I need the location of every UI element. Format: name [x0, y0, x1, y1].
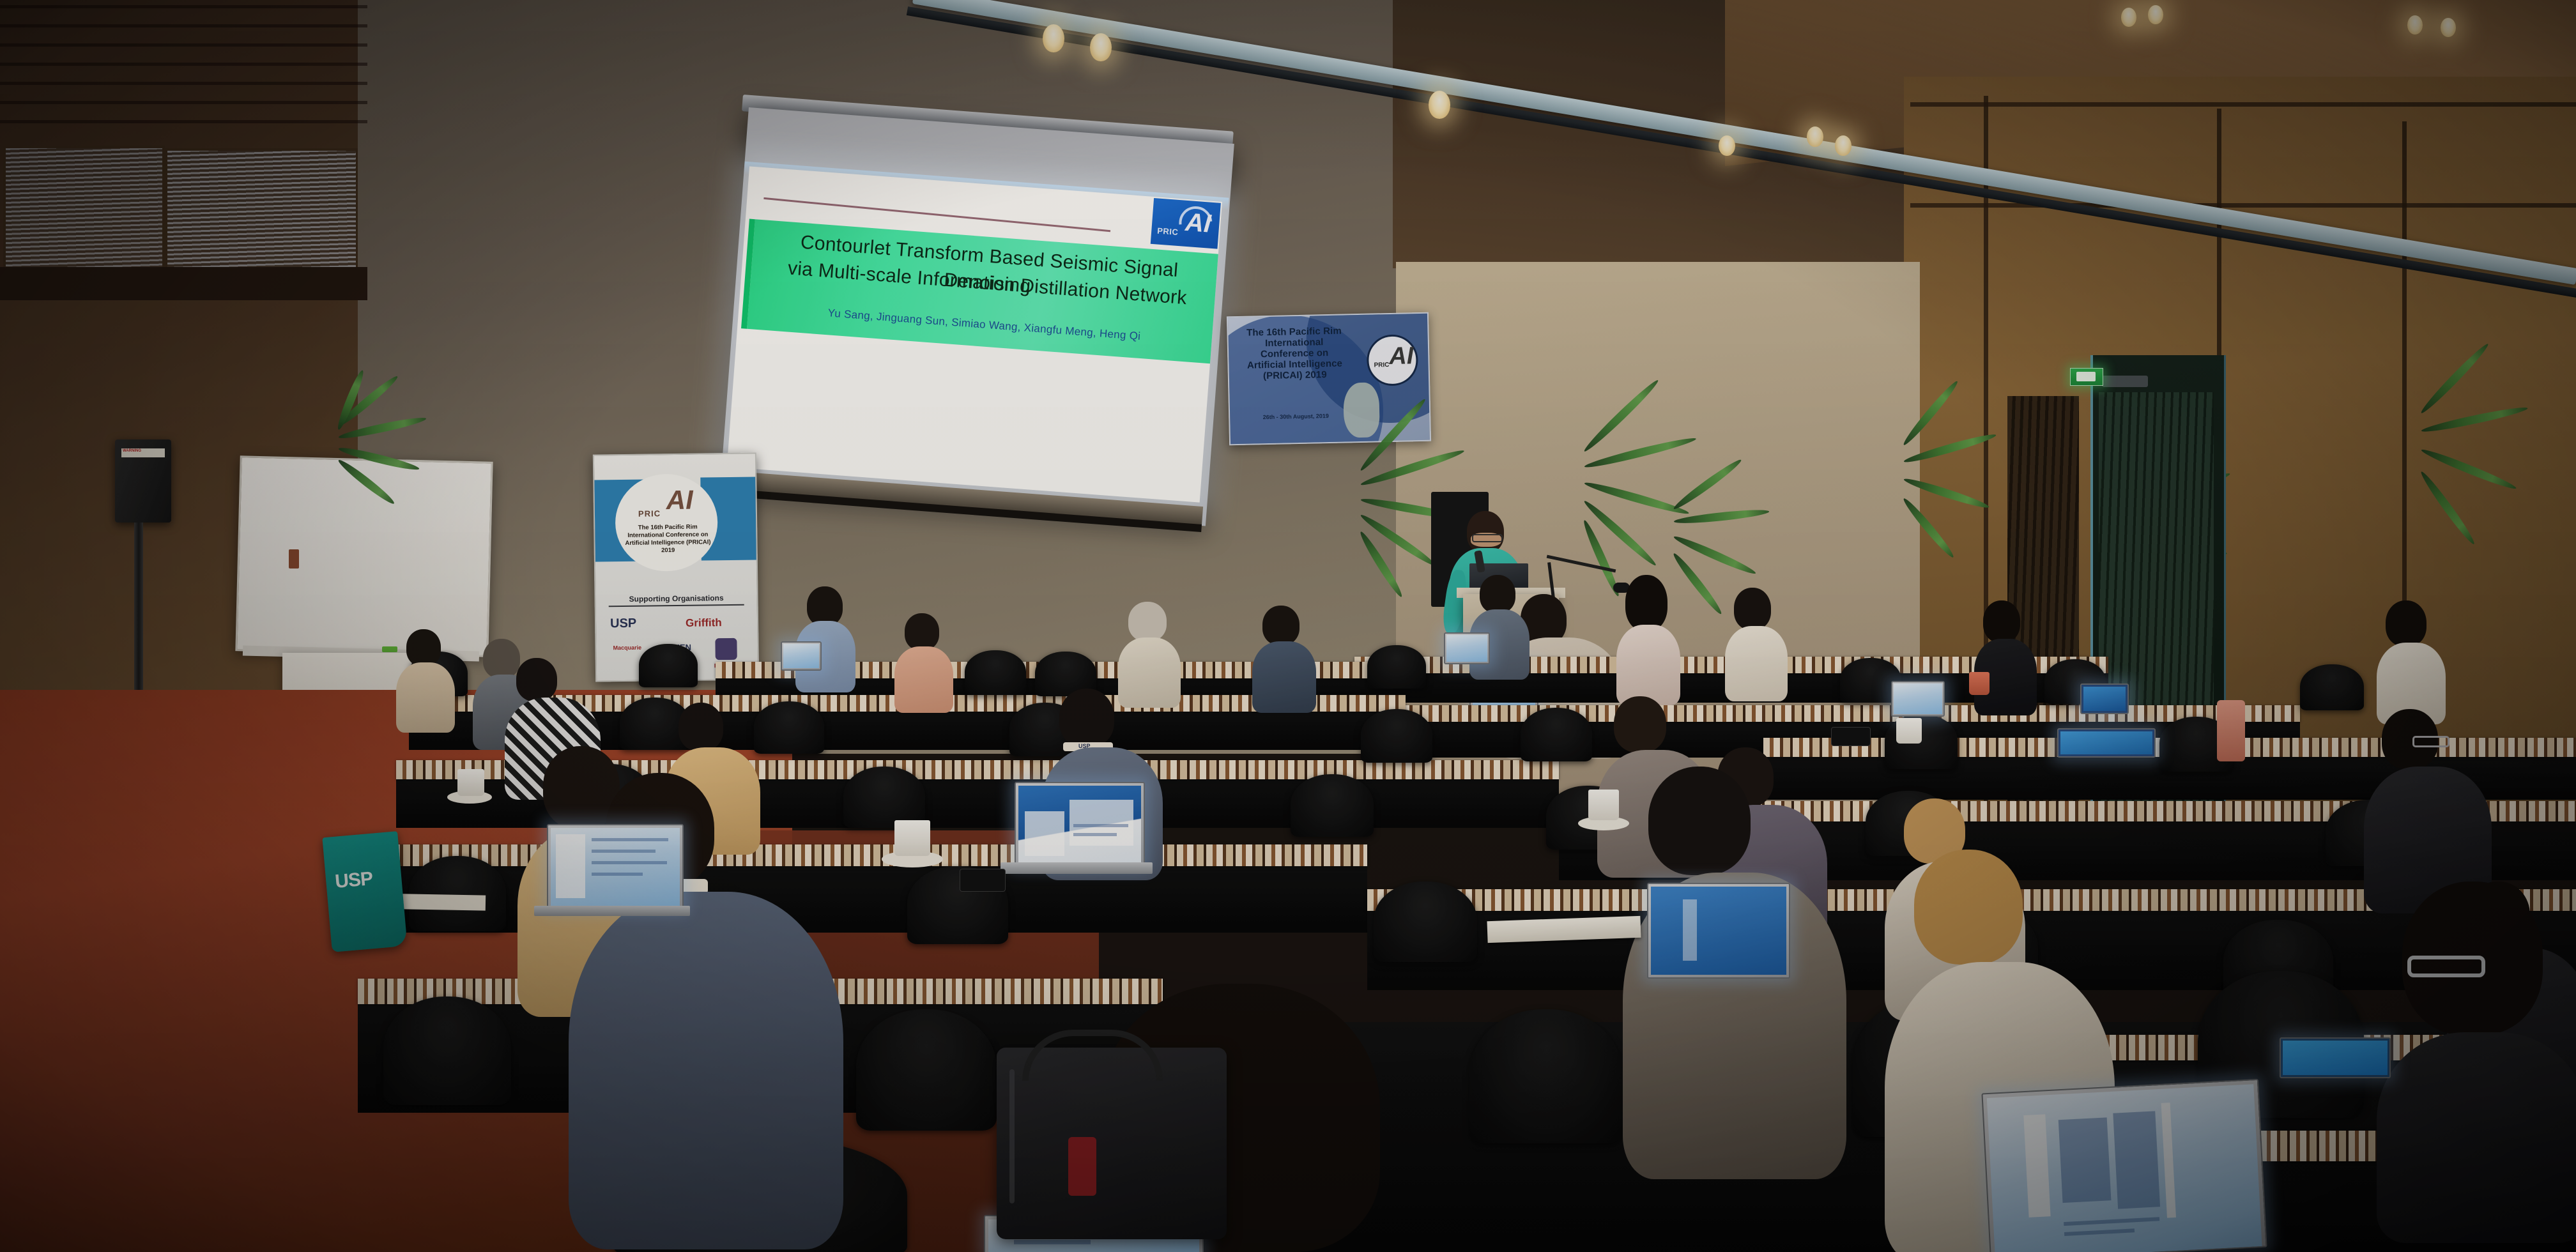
person-torso: [1616, 625, 1680, 705]
person-head: [483, 639, 520, 678]
laptop[interactable]: [1647, 883, 1790, 979]
chair[interactable]: [1367, 645, 1426, 689]
sponsor-shield-icon: [715, 638, 737, 660]
presenter-glasses-icon: [1472, 534, 1503, 542]
rollup-pric-wordmark: PRIC: [638, 508, 661, 518]
slide-title-band: Contourlet Transform Based Seismic Signa…: [741, 219, 1222, 365]
person-torso: [1252, 641, 1316, 713]
chair[interactable]: [639, 644, 698, 687]
person-head: [1625, 575, 1667, 631]
conference-tote-bag[interactable]: USP: [322, 831, 407, 952]
person-torso: [569, 892, 843, 1249]
coffee-cup: [894, 820, 930, 856]
louvre-window-left: [3, 146, 165, 272]
presentation-slide: AI PRIC Contourlet Transform Based Seism…: [727, 166, 1222, 502]
spotlight: [1043, 24, 1064, 52]
slide-header: [762, 174, 1146, 229]
door-closer-arm: [2102, 376, 2148, 387]
pricai-ai-mark: AI: [1184, 210, 1212, 237]
person-torso: [1118, 637, 1181, 708]
person-head: [1614, 696, 1666, 752]
rollup-conference-text: The 16th Pacific Rim International Confe…: [620, 523, 716, 555]
person-head: [1262, 606, 1299, 645]
spotlight: [1719, 135, 1735, 156]
coffee-cup: [1896, 718, 1922, 744]
rollup-supporting-heading: Supporting Organisations: [609, 593, 744, 607]
spotlight: [1807, 126, 1823, 147]
person-head: [905, 613, 939, 650]
chair[interactable]: [856, 1009, 997, 1131]
spotlight: [2148, 5, 2163, 24]
person-head: [1059, 689, 1114, 747]
pa-speaker: WARNING: [115, 439, 171, 523]
slide-pricai-logo: AI PRIC: [1151, 198, 1221, 249]
chair[interactable]: [843, 767, 925, 828]
chair[interactable]: [1521, 708, 1592, 761]
louvre-window-right: [165, 148, 358, 276]
spotlight: [1835, 135, 1851, 156]
laptop-base: [1000, 862, 1153, 874]
exit-sign: [2070, 368, 2103, 386]
person-head-blonde: [1914, 850, 2023, 965]
chair[interactable]: [1361, 709, 1432, 763]
chair[interactable]: [2300, 664, 2364, 710]
bag-strap: [1009, 1069, 1015, 1203]
coffee-cup: [457, 769, 484, 796]
person-head: [1734, 588, 1771, 630]
sponsor-logo-usp: USP: [610, 616, 636, 632]
smartphone[interactable]: [960, 869, 1006, 892]
laptop[interactable]: [1891, 681, 1945, 717]
drink-cup: [1969, 672, 1989, 695]
luggage-tag: [1068, 1137, 1096, 1196]
laptop[interactable]: [1444, 632, 1490, 664]
chair[interactable]: [754, 701, 824, 754]
whiteboard-magnet: [289, 549, 299, 569]
spotlight: [2407, 15, 2423, 34]
person-head: [807, 586, 843, 626]
eyeglasses-icon: [2412, 736, 2449, 747]
laptop[interactable]: [547, 824, 684, 910]
chair[interactable]: [1291, 774, 1374, 837]
eyeglasses-icon: [2407, 956, 2485, 977]
person-head: [1480, 575, 1515, 613]
coffee-cup: [1588, 790, 1619, 820]
presenter-head: [1467, 511, 1504, 553]
projection-screen: AI PRIC Contourlet Transform Based Seism…: [720, 107, 1234, 526]
chair[interactable]: [383, 996, 511, 1105]
wall-rail: [0, 267, 367, 300]
person-head: [1983, 600, 2020, 643]
person-head: [678, 703, 723, 751]
pa-speaker-label-text: WARNING: [123, 449, 141, 453]
pa-speaker-label: WARNING: [121, 448, 165, 457]
spotlight: [2121, 8, 2136, 27]
tablet[interactable]: [2057, 728, 2156, 758]
chair[interactable]: [1374, 882, 1477, 962]
chair[interactable]: [1469, 1009, 1623, 1143]
laptop-base: [534, 906, 690, 916]
spotlight: [1429, 91, 1450, 119]
person-torso: [396, 662, 455, 733]
person-torso: [894, 646, 953, 713]
person-head: [1648, 767, 1751, 875]
tablet[interactable]: [2080, 683, 2129, 714]
spotlight: [1090, 33, 1112, 61]
person-torso: [2377, 1032, 2576, 1243]
sponsor-logo-macquarie: Macquarie: [613, 645, 641, 652]
pricai-wordmark: PRIC: [1157, 226, 1179, 237]
laptop-bag: [997, 1048, 1227, 1239]
laptop[interactable]: [781, 641, 822, 671]
person-torso: [1725, 626, 1788, 701]
sponsor-logo-griffith: Griffith: [686, 616, 722, 630]
slide-authors: Yu Sang, Jinguang Sun, Simiao Wang, Xian…: [761, 302, 1208, 347]
person-head: [406, 629, 441, 666]
running-man-icon: [2076, 372, 2096, 381]
banner-pric-wordmark: PRIC: [1374, 362, 1389, 369]
banner-conference-title: The 16th Pacific Rim International Confe…: [1239, 325, 1349, 382]
spotlight: [2441, 18, 2456, 37]
whiteboard-marker: [382, 646, 397, 652]
speaker-stand-pole: [134, 523, 143, 714]
conference-room-photo: AI PRIC Contourlet Transform Based Seism…: [0, 0, 2576, 1252]
wall-seam: [1910, 102, 2576, 107]
laptop[interactable]: [1015, 782, 1145, 866]
person-head: [516, 658, 557, 701]
chair[interactable]: [965, 650, 1026, 695]
smartphone[interactable]: [1831, 727, 1871, 746]
slide-body-text: [812, 356, 1144, 381]
banner-ai-mark: AI: [1389, 344, 1414, 369]
banner-face-graphic: [1343, 382, 1380, 438]
person-head: [2386, 600, 2426, 646]
tote-bag-label: USP: [334, 868, 373, 893]
tumbler: [2217, 700, 2245, 761]
person-head: [1128, 602, 1167, 641]
rollup-ai-mark: AI: [666, 487, 693, 514]
wall-seam: [1910, 203, 2576, 208]
laptop-foreground[interactable]: [1981, 1079, 2267, 1252]
tablet[interactable]: [2280, 1037, 2391, 1078]
slide-footer-text: [858, 431, 1087, 448]
